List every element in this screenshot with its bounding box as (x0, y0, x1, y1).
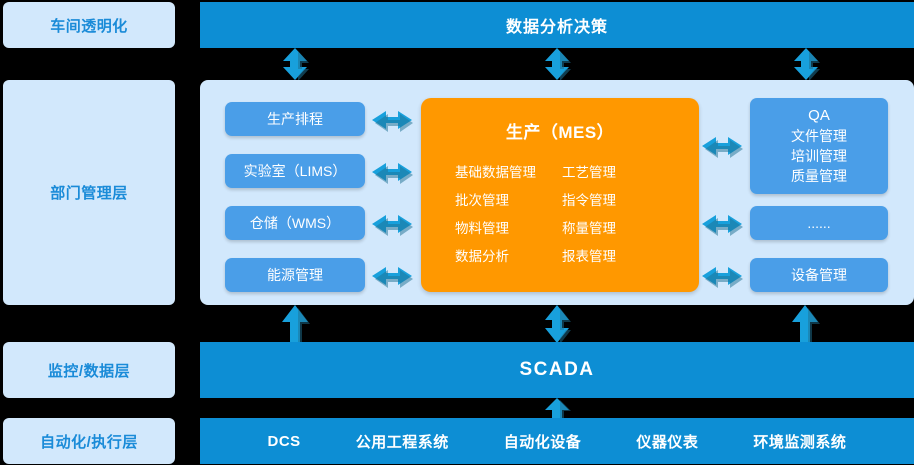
banner-title: SCADA (519, 359, 594, 381)
up-arrow-automation-to-scada (542, 398, 572, 419)
layer-label-text: 监控/数据层 (48, 360, 130, 381)
layer-label-workshop-transparency: 车间透明化 (3, 2, 175, 48)
qa-head: QA (808, 106, 830, 126)
mes-feature-item[interactable]: 工艺管理 (562, 161, 665, 181)
module-button-more[interactable]: ...... (750, 206, 888, 240)
automation-item-utility-systems[interactable]: 公用工程系统 (356, 431, 449, 452)
mes-feature-item[interactable]: 报表管理 (562, 245, 665, 265)
vertical-double-arrow-right (789, 48, 823, 80)
horizontal-double-arrow-left-1 (372, 110, 412, 130)
mes-feature-item[interactable]: 基础数据管理 (455, 161, 558, 181)
module-button-energy-management[interactable]: 能源管理 (225, 258, 365, 292)
module-button-equipment-management[interactable]: 设备管理 (750, 258, 888, 292)
module-label: 实验室（LIMS） (244, 161, 347, 181)
banner-data-analysis-decision: 数据分析决策 (200, 2, 914, 48)
automation-item-row: DCS 公用工程系统 自动化设备 仪器仪表 环境监测系统 (200, 431, 914, 452)
layer-label-text: 自动化/执行层 (40, 431, 138, 452)
vertical-double-arrow-scada (540, 305, 574, 343)
module-button-lims[interactable]: 实验室（LIMS） (225, 154, 365, 188)
layer-label-department-management: 部门管理层 (3, 80, 175, 305)
qa-sub-item: 文件管理 (791, 126, 847, 146)
module-button-wms[interactable]: 仓储（WMS） (225, 206, 365, 240)
module-button-qa[interactable]: QA 文件管理 培训管理 质量管理 (750, 98, 888, 194)
mes-feature-item[interactable]: 物料管理 (455, 217, 558, 237)
mes-feature-grid: 基础数据管理 工艺管理 批次管理 指令管理 物料管理 称量管理 数据分析 报表管… (421, 161, 699, 265)
department-management-panel: 生产排程 实验室（LIMS） 仓储（WMS） 能源管理 生产（M (200, 80, 914, 305)
horizontal-double-arrow-right-1 (702, 136, 742, 156)
layer-label-text: 车间透明化 (50, 15, 128, 36)
automation-item-instrumentation[interactable]: 仪器仪表 (636, 431, 698, 452)
mes-feature-item[interactable]: 指令管理 (562, 189, 665, 209)
qa-sub-item: 质量管理 (791, 166, 847, 186)
up-arrow-left (279, 305, 311, 343)
up-arrow-right (789, 305, 821, 343)
mes-feature-item[interactable]: 批次管理 (455, 189, 558, 209)
horizontal-double-arrow-left-4 (372, 266, 412, 286)
layer-label-monitoring-data: 监控/数据层 (3, 342, 175, 398)
module-label: 仓储（WMS） (250, 213, 340, 233)
banner-automation-execution: DCS 公用工程系统 自动化设备 仪器仪表 环境监测系统 (200, 418, 914, 464)
banner-title: 数据分析决策 (506, 13, 608, 37)
mes-production-card[interactable]: 生产（MES） 基础数据管理 工艺管理 批次管理 指令管理 物料管理 称量管理 … (421, 98, 699, 292)
module-label: 设备管理 (791, 265, 847, 285)
mes-feature-item[interactable]: 数据分析 (455, 245, 558, 265)
vertical-double-arrow-center (540, 48, 574, 80)
mes-feature-item[interactable]: 称量管理 (562, 217, 665, 237)
module-label: 生产排程 (267, 109, 323, 129)
vertical-double-arrow-left (278, 48, 312, 80)
automation-item-dcs[interactable]: DCS (268, 433, 301, 450)
horizontal-double-arrow-left-2 (372, 162, 412, 182)
module-button-production-scheduling[interactable]: 生产排程 (225, 102, 365, 136)
qa-sub-item: 培训管理 (791, 146, 847, 166)
horizontal-double-arrow-right-2 (702, 214, 742, 234)
automation-item-environmental-monitoring[interactable]: 环境监测系统 (753, 431, 846, 452)
module-label: 能源管理 (267, 265, 323, 285)
automation-item-automation-equipment[interactable]: 自动化设备 (504, 431, 582, 452)
module-label: ...... (807, 213, 830, 233)
horizontal-double-arrow-right-3 (702, 266, 742, 286)
banner-scada: SCADA (200, 342, 914, 398)
horizontal-double-arrow-left-3 (372, 214, 412, 234)
mes-title: 生产（MES） (421, 118, 699, 143)
layer-label-text: 部门管理层 (50, 182, 128, 203)
layer-label-automation-execution: 自动化/执行层 (3, 418, 175, 464)
